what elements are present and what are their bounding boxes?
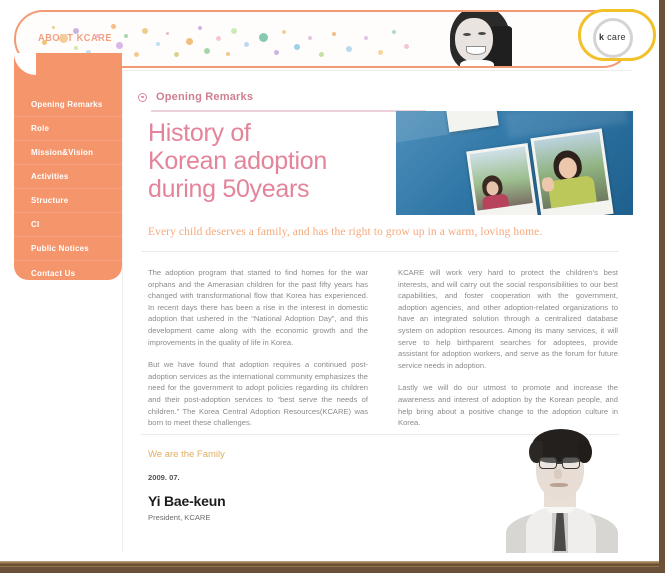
- page-canvas: ABOUT KCARE: [0, 0, 659, 567]
- paragraph: The adoption program that started to fin…: [148, 267, 368, 348]
- signature-date: 2009. 07.: [148, 473, 180, 482]
- sidebar-item-label: Opening Remarks: [31, 100, 102, 109]
- sidebar-corner-notch: [14, 53, 36, 75]
- divider-top: [141, 251, 619, 252]
- breadcrumb-underline: [151, 110, 426, 112]
- sidebar-item-activities[interactable]: Activities: [14, 165, 122, 189]
- page-title: ABOUT KCARE: [38, 33, 112, 44]
- sidebar-item-mission-vision[interactable]: Mission&Vision: [14, 141, 122, 165]
- sidebar-item-role[interactable]: Role: [14, 117, 122, 141]
- sidebar-item-label: CI: [31, 220, 39, 229]
- hero-heading-line-3: during 50years: [148, 175, 309, 203]
- logo-text-secondary: care: [607, 32, 626, 42]
- browser-frame: ABOUT KCARE: [0, 0, 665, 573]
- president-portrait: [492, 415, 622, 553]
- sidebar-item-label: Mission&Vision: [31, 148, 93, 157]
- logo-text: k care: [599, 32, 647, 42]
- sidebar-item-public-notices[interactable]: Public Notices: [14, 237, 122, 261]
- body-columns: The adoption program that started to fin…: [148, 267, 618, 440]
- sidebar-item-contact-us[interactable]: Contact Us: [14, 261, 122, 285]
- body-column-right: KCARE will work very hard to protect the…: [398, 267, 618, 440]
- body-column-left: The adoption program that started to fin…: [148, 267, 368, 440]
- sidebar-item-structure[interactable]: Structure: [14, 189, 122, 213]
- paragraph: KCARE will work very hard to protect the…: [398, 267, 618, 371]
- hero-photo: [396, 111, 633, 215]
- sidebar-item-list: Opening Remarks Role Mission&Vision Acti…: [14, 93, 122, 285]
- tagline: Every child deserves a family, and has t…: [148, 226, 618, 238]
- target-dot-icon: [138, 93, 147, 102]
- logo-text-primary: k: [599, 32, 604, 42]
- sidebar-item-label: Structure: [31, 196, 68, 205]
- sidebar-item-label: Public Notices: [31, 244, 89, 253]
- signature-role: President, KCARE: [148, 513, 210, 522]
- hero-heading-line-2: Korean adoption: [148, 147, 327, 175]
- sidebar-item-label: Activities: [31, 172, 69, 181]
- header-child-photo: [422, 12, 512, 68]
- signature-name: Yi Bae-keun: [148, 493, 225, 509]
- kcare-logo[interactable]: k care: [578, 9, 656, 61]
- main-content: Opening Remarks History of Korean adopti…: [122, 70, 632, 552]
- sidebar-nav: Opening Remarks Role Mission&Vision Acti…: [14, 53, 122, 280]
- sidebar-item-label: Role: [31, 124, 49, 133]
- breadcrumb: Opening Remarks: [138, 91, 253, 103]
- hero-heading-line-1: History of: [148, 119, 251, 147]
- breadcrumb-label: Opening Remarks: [156, 91, 253, 103]
- sidebar-item-ci[interactable]: CI: [14, 213, 122, 237]
- hero-heading: History of Korean adoption during 50year…: [148, 119, 398, 203]
- sidebar-item-opening-remarks[interactable]: Opening Remarks: [14, 93, 122, 117]
- paragraph: But we have found that adoption requires…: [148, 359, 368, 429]
- family-tagline: We are the Family: [148, 449, 225, 460]
- sidebar-item-label: Contact Us: [31, 269, 75, 278]
